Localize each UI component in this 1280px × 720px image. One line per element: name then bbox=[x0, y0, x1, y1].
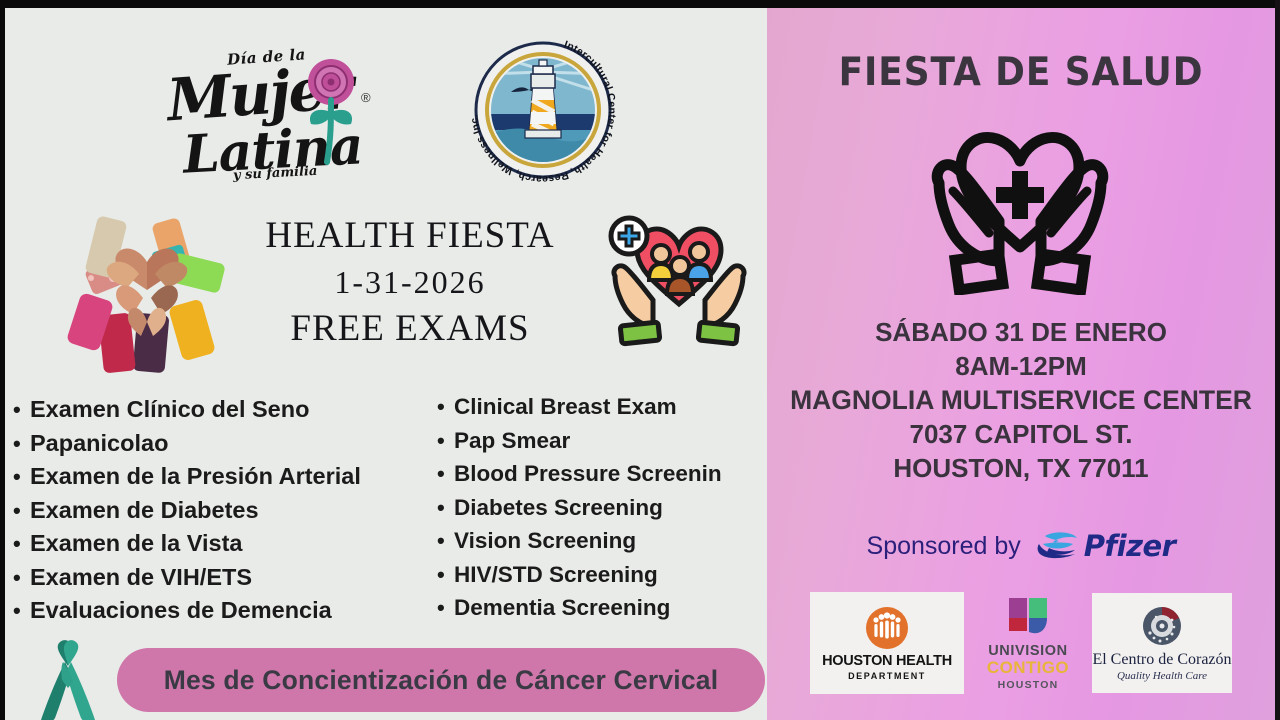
univision-contigo: CONTIGO bbox=[987, 658, 1069, 678]
service-label: Examen de la Vista bbox=[30, 527, 243, 561]
left-panel: Día de la Mujer Latina y su familia ® bbox=[5, 8, 767, 720]
service-label: Vision Screening bbox=[454, 524, 636, 558]
ecc-name: El Centro de Corazón bbox=[1092, 651, 1231, 669]
services-list-spanish: •Examen Clínico del Seno •Papanicolao •E… bbox=[13, 393, 443, 628]
pfizer-logo: Pfizer bbox=[1035, 528, 1176, 564]
service-label: Evaluaciones de Demencia bbox=[30, 594, 332, 628]
univision-u-icon bbox=[1005, 596, 1051, 640]
event-date: SÁBADO 31 DE ENERO bbox=[767, 315, 1275, 349]
event-street: 7037 CAPITOL ST. bbox=[767, 417, 1275, 451]
heading-line-2: 1-31-2026 bbox=[260, 258, 560, 306]
bullet-icon: • bbox=[437, 396, 454, 418]
bullet-icon: • bbox=[13, 533, 30, 555]
frame-bar-left bbox=[0, 0, 5, 720]
lighthouse-icon: Intercultural Center for Health, Researc… bbox=[453, 30, 633, 182]
ecc-subtitle: Quality Health Care bbox=[1117, 670, 1207, 682]
bullet-icon: • bbox=[13, 500, 30, 522]
mujer-latina-logo: Día de la Mujer Latina y su familia ® bbox=[145, 38, 385, 178]
houston-health-department-logo: HOUSTON HEALTH DEPARTMENT bbox=[810, 592, 964, 694]
houston-health-people-circle-icon bbox=[865, 606, 909, 650]
univision-contigo-logo: UNIVISION CONTIGO HOUSTON bbox=[980, 596, 1076, 691]
service-label: Dementia Screening bbox=[454, 591, 670, 625]
service-item-en: •Diabetes Screening bbox=[437, 491, 782, 525]
service-item-es: •Examen de la Vista bbox=[13, 527, 443, 561]
sponsored-by-row: Sponsored by Pfizer bbox=[767, 522, 1275, 570]
frame-bar-top bbox=[0, 0, 1280, 8]
el-centro-de-corazon-logo: El Centro de Corazón Quality Health Care bbox=[1092, 593, 1232, 693]
el-centro-de-corazon-circle-icon bbox=[1138, 605, 1186, 649]
service-item-en: •Vision Screening bbox=[437, 524, 782, 558]
pfizer-wordmark: Pfizer bbox=[1084, 529, 1176, 563]
service-item-en: •Clinical Breast Exam bbox=[437, 390, 782, 424]
service-label: Papanicolao bbox=[30, 427, 168, 461]
bullet-icon: • bbox=[13, 399, 30, 421]
service-item-es: •Examen Clínico del Seno bbox=[13, 393, 443, 427]
service-label: Examen de VIH/ETS bbox=[30, 561, 252, 595]
event-details: SÁBADO 31 DE ENERO 8AM-12PM MAGNOLIA MUL… bbox=[767, 315, 1275, 485]
service-label: Pap Smear bbox=[454, 424, 570, 458]
fiesta-title: FIESTA DE SALUD bbox=[787, 50, 1254, 95]
service-item-en: •Blood Pressure Screenin bbox=[437, 457, 782, 491]
service-item-es: •Papanicolao bbox=[13, 427, 443, 461]
service-item-en: •HIV/STD Screening bbox=[437, 558, 782, 592]
service-label: Examen de la Presión Arterial bbox=[30, 460, 361, 494]
service-item-en: •Dementia Screening bbox=[437, 591, 782, 625]
event-venue: MAGNOLIA MULTISERVICE CENTER bbox=[767, 383, 1275, 417]
service-label: Examen de Diabetes bbox=[30, 494, 259, 528]
awareness-banner-text: Mes de Concientización de Cáncer Cervica… bbox=[164, 665, 719, 696]
hhd-subtitle: DEPARTMENT bbox=[848, 671, 926, 681]
service-item-es: •Examen de la Presión Arterial bbox=[13, 460, 443, 494]
icc-logo: Intercultural Center for Health, Researc… bbox=[453, 30, 633, 182]
bullet-icon: • bbox=[437, 497, 454, 519]
bullet-icon: • bbox=[13, 433, 30, 455]
heading-line-3: FREE EXAMS bbox=[260, 306, 560, 352]
event-city-state-zip: HOUSTON, TX 77011 bbox=[767, 451, 1275, 485]
hhd-name: HOUSTON HEALTH bbox=[822, 653, 952, 669]
center-heading: HEALTH FIESTA 1-31-2026 FREE EXAMS bbox=[260, 213, 560, 352]
hands-holding-family-heart-icon bbox=[593, 204, 765, 364]
awareness-banner: Mes de Concientización de Cáncer Cervica… bbox=[117, 648, 765, 712]
service-label: Clinical Breast Exam bbox=[454, 390, 677, 424]
service-label: HIV/STD Screening bbox=[454, 558, 658, 592]
service-item-es: •Examen de VIH/ETS bbox=[13, 561, 443, 595]
rose-icon bbox=[291, 56, 371, 166]
hands-forming-heart-icon bbox=[47, 204, 247, 374]
service-item-en: •Pap Smear bbox=[437, 424, 782, 458]
service-label: Blood Pressure Screenin bbox=[454, 457, 722, 491]
flyer-poster: Día de la Mujer Latina y su familia ® bbox=[0, 0, 1280, 720]
pfizer-swirl-icon bbox=[1035, 528, 1081, 564]
heading-line-1: HEALTH FIESTA bbox=[260, 213, 560, 258]
service-label: Diabetes Screening bbox=[454, 491, 663, 525]
frame-bar-right bbox=[1275, 0, 1280, 720]
service-item-es: •Examen de Diabetes bbox=[13, 494, 443, 528]
teal-awareness-ribbon-icon bbox=[35, 636, 101, 720]
bullet-icon: • bbox=[437, 564, 454, 586]
univision-name: UNIVISION bbox=[988, 643, 1068, 659]
bullet-icon: • bbox=[13, 600, 30, 622]
mujer-latina-tagline-bottom: y su familia bbox=[233, 164, 318, 183]
bullet-icon: • bbox=[437, 530, 454, 552]
bullet-icon: • bbox=[13, 466, 30, 488]
bullet-icon: • bbox=[13, 567, 30, 589]
bullet-icon: • bbox=[437, 597, 454, 619]
service-label: Examen Clínico del Seno bbox=[30, 393, 309, 427]
event-time: 8AM-12PM bbox=[767, 349, 1275, 383]
bullet-icon: • bbox=[437, 463, 454, 485]
bullet-icon: • bbox=[437, 430, 454, 452]
services-list-english: •Clinical Breast Exam •Pap Smear •Blood … bbox=[437, 390, 782, 625]
partner-logos-row: HOUSTON HEALTH DEPARTMENT UNIVISION CONT… bbox=[767, 588, 1275, 698]
univision-houston: HOUSTON bbox=[998, 679, 1059, 691]
sponsored-by-label: Sponsored by bbox=[867, 532, 1021, 561]
service-item-es: •Evaluaciones de Demencia bbox=[13, 594, 443, 628]
hands-holding-heart-with-cross-icon bbox=[905, 105, 1135, 295]
